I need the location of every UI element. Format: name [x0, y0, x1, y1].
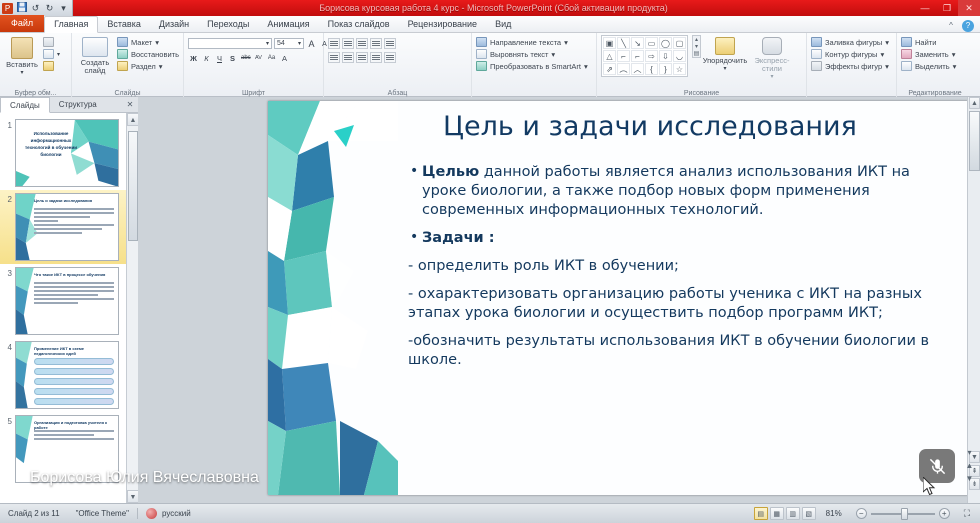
cut-button[interactable]: [43, 37, 60, 47]
paragraph-list-row: [328, 38, 396, 49]
slides-small-buttons: Макет▾ Восстановить Раздел▾: [117, 35, 179, 71]
shape-lightning-icon[interactable]: ⇗: [603, 63, 616, 75]
shape-fill-label: Заливка фигуры: [825, 38, 882, 47]
columns-button[interactable]: [384, 52, 396, 63]
shape-rounded-rect-icon[interactable]: ▢: [673, 37, 686, 49]
ribbon-tab-strip: Файл Главная Вставка Дизайн Переходы Ани…: [0, 16, 980, 33]
reset-button[interactable]: Восстановить: [117, 49, 179, 59]
zoom-in-button[interactable]: +: [939, 508, 950, 519]
shape-brace-right-icon[interactable]: }: [659, 63, 672, 75]
find-label: Найти: [915, 38, 936, 47]
tab-animations[interactable]: Анимация: [258, 17, 318, 32]
panel-close-icon[interactable]: ✕: [122, 97, 138, 112]
strikethrough-button[interactable]: abc: [240, 52, 251, 63]
text-direction-icon: [476, 37, 487, 47]
thumbnail-number: 2: [2, 193, 12, 261]
thumbnail-item[interactable]: 2 Цель и задачи исследования: [0, 190, 126, 264]
share-control-strip[interactable]: ▾ ▲ ▼: [963, 448, 976, 483]
smartart-icon: [476, 61, 487, 71]
line-spacing-button[interactable]: [384, 38, 396, 49]
thumbnail-title: Применение ИКТ в схеме педагогических ид…: [34, 346, 115, 356]
thumbnail-preview[interactable]: Использование информационных технологий …: [15, 119, 119, 187]
slide-bullet: Целью данной работы является анализ испо…: [408, 163, 954, 220]
participant-name-caption: Борисова Юлия Вячеславовна: [30, 469, 259, 487]
slide-dash-item: -обозначить результаты использования ИКТ…: [408, 332, 954, 370]
undo-icon[interactable]: ↺: [30, 3, 41, 14]
slide-thumbnail-list[interactable]: 1 Использование информационных технологи…: [0, 113, 126, 503]
thumbnail-number: 1: [2, 119, 12, 187]
slide-decoration-icon: [268, 101, 398, 495]
share-down-icon[interactable]: ▼: [966, 474, 974, 483]
copy-dropdown-icon[interactable]: ▾: [57, 51, 60, 58]
ribbon-group-paragraph: Абзац: [324, 33, 472, 97]
shapes-scroll-up-icon[interactable]: ▴: [693, 36, 700, 43]
thumbnail-preview[interactable]: Цель и задачи исследования: [15, 193, 119, 261]
paste-label: Вставить: [6, 61, 38, 69]
thumbnail-pill: [34, 388, 114, 395]
shape-fill-icon: [811, 37, 822, 47]
slide-title[interactable]: Цель и задачи исследования: [443, 111, 948, 142]
thumbnail-title: Использование информационных технологий …: [24, 130, 78, 158]
format-painter-button[interactable]: [43, 61, 60, 71]
current-slide[interactable]: Цель и задачи исследования Целью данной …: [268, 101, 968, 495]
select-button[interactable]: Выделить▾: [901, 61, 969, 71]
convert-smartart-label: Преобразовать в SmartArt: [490, 62, 581, 71]
convert-smartart-button[interactable]: Преобразовать в SmartArt▾: [476, 61, 592, 71]
clipboard-small-buttons: ▾: [43, 35, 60, 71]
arrange-icon: [715, 37, 735, 55]
slide-stage: Цель и задачи исследования Целью данной …: [138, 97, 980, 503]
drawing-group-label: Рисование: [597, 90, 806, 97]
align-text-button[interactable]: Выровнять текст▾: [476, 49, 592, 59]
shape-oval-icon[interactable]: ◯: [659, 37, 672, 49]
thumbnail-body-lines: [34, 208, 114, 236]
replace-icon: [901, 49, 912, 59]
shape-elbow2-icon[interactable]: ⌐: [631, 50, 644, 62]
quick-styles-button[interactable]: Экспресс-стили ▾: [749, 35, 795, 81]
find-icon: [901, 37, 912, 47]
title-bar: P ↺ ↻ ▾ Борисова курсовая работа 4 курс …: [0, 0, 980, 16]
thumbnail-number: 5: [2, 415, 12, 483]
replace-button[interactable]: Заменить▾: [901, 49, 969, 59]
tab-design[interactable]: Дизайн: [150, 17, 198, 32]
slide-bullet-text: данной работы является анализ использова…: [422, 164, 910, 218]
font-name-dropdown-icon[interactable]: ▾: [266, 39, 269, 49]
slide-counter: Слайд 2 из 11: [0, 509, 68, 518]
view-normal-button[interactable]: ▤: [754, 507, 768, 520]
shape-fill-button[interactable]: Заливка фигуры▾: [811, 37, 892, 47]
shape-arrow-icon[interactable]: ↘: [631, 37, 644, 49]
replace-label: Заменить: [915, 50, 949, 59]
thumbnail-number: 4: [2, 341, 12, 409]
shape-curve-icon[interactable]: ︵: [617, 63, 630, 75]
collapse-ribbon-icon[interactable]: ^: [945, 20, 957, 32]
quick-styles-dropdown-icon[interactable]: ▾: [770, 73, 773, 81]
zoom-slider[interactable]: − +: [850, 508, 956, 519]
shape-down-arrow-icon[interactable]: ⇩: [659, 50, 672, 62]
shape-effects-button[interactable]: Эффекты фигур▾: [811, 61, 892, 71]
decrease-indent-button[interactable]: [356, 38, 368, 49]
thumbnail-preview[interactable]: Применение ИКТ в схеме педагогических ид…: [15, 341, 119, 409]
arrange-dropdown-icon[interactable]: ▾: [723, 65, 726, 73]
spellcheck-icon: [146, 508, 157, 519]
panel-scroll-thumb[interactable]: [128, 131, 138, 241]
font-style-row: Ж К Ч S abc AV Aa A: [188, 52, 290, 63]
align-text-icon: [476, 49, 487, 59]
tab-insert[interactable]: Вставка: [98, 17, 149, 32]
paste-icon: [11, 37, 33, 59]
qat-more-icon[interactable]: ▾: [58, 3, 69, 14]
slides-panel-scrollbar[interactable]: ▲ ▼: [126, 113, 138, 503]
paste-dropdown-icon[interactable]: ▾: [20, 69, 23, 77]
layout-icon: [117, 37, 128, 47]
paragraph-align-row: [328, 52, 396, 63]
shapes-scroll-down-icon[interactable]: ▾: [693, 43, 700, 50]
find-button[interactable]: Найти: [901, 37, 969, 47]
editing-column: Найти Заменить▾ Выделить▾: [901, 35, 969, 71]
slide-bullet-lead: Задачи: [422, 230, 484, 246]
font-size-value: 54: [277, 39, 285, 49]
copy-icon: [43, 49, 54, 59]
thumbnail-number: 3: [2, 267, 12, 335]
microphone-muted-icon: [928, 457, 947, 476]
scissors-icon: [43, 37, 54, 47]
text-direction-button[interactable]: Направление текста▾: [476, 37, 592, 47]
close-button[interactable]: ✕: [958, 0, 980, 16]
view-slide-sorter-button[interactable]: ▦: [770, 507, 784, 520]
shape-brace-left-icon[interactable]: {: [645, 63, 658, 75]
align-center-button[interactable]: [342, 52, 354, 63]
shape-effects-label: Эффекты фигур: [825, 62, 882, 71]
section-icon: [117, 61, 128, 71]
status-bar: Слайд 2 из 11 "Office Theme" русский ▤ ▦…: [0, 503, 980, 523]
slide-bullet-lead: Целью: [422, 164, 479, 180]
slide-dash-item: - определить роль ИКТ в обучении;: [408, 257, 954, 276]
fit-to-window-button[interactable]: ⛶: [956, 508, 980, 519]
language-indicator[interactable]: русский: [138, 508, 199, 519]
shape-triangle-icon[interactable]: △: [603, 50, 616, 62]
format-painter-icon: [43, 61, 54, 71]
editing-group-label: Редактирование: [897, 90, 973, 97]
redo-icon[interactable]: ↻: [44, 3, 55, 14]
ribbon-group-drawing: ▣ ╲ ↘ ▭ ◯ ▢ △ ⌐ ⌐ ⇨ ⇩ ◡ ⇗ ︵ ︿ { }: [597, 33, 807, 97]
thumbnail-body-lines: [34, 282, 114, 306]
paragraph-group-label: Абзац: [324, 90, 471, 97]
font-name-row: ▾ 54▾ A A: [188, 38, 330, 49]
window-controls: — ❐ ✕: [914, 0, 980, 16]
underline-button[interactable]: Ч: [214, 52, 225, 63]
new-slide-icon: [82, 37, 108, 57]
ribbon-group-editing: Найти Заменить▾ Выделить▾ Редактирование: [897, 33, 973, 97]
section-label: Раздел: [131, 62, 156, 71]
clipboard-group-label: Буфер обм...: [0, 90, 71, 97]
help-icon[interactable]: ?: [962, 20, 974, 32]
work-area: Слайды Структура ✕ 1: [0, 97, 980, 503]
text-shadow-button[interactable]: S: [227, 52, 238, 63]
layout-label: Макет: [131, 38, 152, 47]
panel-tab-slides[interactable]: Слайды: [0, 97, 50, 113]
powerpoint-logo-icon: P: [2, 3, 13, 14]
view-slideshow-button[interactable]: ▧: [802, 507, 816, 520]
thumbnail-title: Что такое ИКТ в процессе обучения: [34, 272, 115, 277]
numbering-button[interactable]: [342, 38, 354, 49]
change-case-button[interactable]: Aa: [266, 52, 277, 63]
ribbon-group-font: ▾ 54▾ A A Ж К Ч S abc AV Aa A Шрифт: [184, 33, 324, 97]
slide-bullet-text: :: [484, 230, 495, 246]
save-icon[interactable]: [16, 2, 27, 14]
shapes-scroll-more-icon[interactable]: ▤: [693, 50, 700, 57]
justify-button[interactable]: [370, 52, 382, 63]
shape-rect-icon[interactable]: ▣: [603, 37, 616, 49]
shape-star-icon[interactable]: ☆: [673, 63, 686, 75]
arrange-button[interactable]: Упорядочить ▾: [704, 35, 746, 73]
select-label: Выделить: [915, 62, 950, 71]
shape-elbow-icon[interactable]: ⌐: [617, 50, 630, 62]
font-group-label: Шрифт: [184, 90, 323, 97]
thumbnail-pill: [34, 398, 114, 405]
bullets-button[interactable]: [328, 38, 340, 49]
font-color-button[interactable]: A: [279, 52, 290, 63]
window-title: Борисова курсовая работа 4 курс - Micros…: [73, 3, 914, 13]
shape-right-arrow-icon[interactable]: ⇨: [645, 50, 658, 62]
reset-label: Восстановить: [131, 50, 179, 59]
tab-view[interactable]: Вид: [486, 17, 520, 32]
text-direction-label: Направление текста: [490, 38, 561, 47]
thumbnail-title: Цель и задачи исследования: [34, 198, 115, 203]
slide-dash-item: - охарактеризовать организацию работы уч…: [408, 285, 954, 323]
ribbon-group-text-tools: Направление текста▾ Выровнять текст▾ Пре…: [472, 33, 597, 97]
layout-button[interactable]: Макет▾: [117, 37, 179, 47]
mouse-cursor-icon: [923, 477, 937, 497]
shape-format-column: Заливка фигуры▾ Контур фигуры▾ Эффекты ф…: [811, 35, 892, 71]
ribbon-help-icons: ^ ?: [945, 20, 980, 32]
shape-outline-icon: [811, 49, 822, 59]
bold-button[interactable]: Ж: [188, 52, 199, 63]
thumbnail-pill: [34, 358, 114, 365]
language-label: русский: [162, 509, 191, 518]
shape-moon-icon[interactable]: ◡: [673, 50, 686, 62]
select-icon: [901, 61, 912, 71]
powerpoint-window: P ↺ ↻ ▾ Борисова курсовая работа 4 курс …: [0, 0, 980, 523]
shape-outline-button[interactable]: Контур фигуры▾: [811, 49, 892, 59]
italic-button[interactable]: К: [201, 52, 212, 63]
quick-styles-label: Экспресс-стили: [749, 57, 795, 73]
tab-home[interactable]: Главная: [44, 16, 98, 33]
ribbon-group-shape-format: Заливка фигуры▾ Контур фигуры▾ Эффекты ф…: [807, 33, 897, 97]
align-right-button[interactable]: [356, 52, 368, 63]
slides-panel: Слайды Структура ✕ 1: [0, 97, 138, 503]
arrange-label: Упорядочить: [703, 57, 748, 65]
reset-icon: [117, 49, 128, 59]
slide-scroll-thumb[interactable]: [969, 111, 980, 171]
slide-bullet: Задачи :: [408, 229, 954, 248]
slide-body[interactable]: Целью данной работы является анализ испо…: [408, 163, 954, 379]
align-left-button[interactable]: [328, 52, 340, 63]
align-text-label: Выровнять текст: [490, 50, 548, 59]
ribbon: Вставить ▾ ▾ Буфер обм... Создать слайд: [0, 33, 980, 97]
share-up-icon[interactable]: ▲: [966, 461, 974, 470]
minimize-button[interactable]: —: [914, 0, 936, 16]
new-slide-button[interactable]: Создать слайд: [76, 35, 114, 75]
thumbnail-item[interactable]: 1 Использование информационных технологи…: [0, 116, 126, 190]
zoom-track[interactable]: [871, 513, 935, 515]
shape-line-icon[interactable]: ╲: [617, 37, 630, 49]
thumbnail-pill: [34, 378, 114, 385]
shapes-gallery-scrollbar[interactable]: ▴▾▤: [692, 35, 701, 58]
shape-rectangle-icon[interactable]: ▭: [645, 37, 658, 49]
thumbnail-preview[interactable]: Что такое ИКТ в процессе обучения: [15, 267, 119, 335]
text-tools-column: Направление текста▾ Выровнять текст▾ Пре…: [476, 35, 592, 71]
copy-button[interactable]: ▾: [43, 49, 60, 59]
view-buttons[interactable]: ▤ ▦ ▥ ▧: [754, 507, 818, 520]
font-size-dropdown-icon[interactable]: ▾: [298, 39, 301, 49]
panel-tab-outline[interactable]: Структура: [50, 97, 106, 112]
shape-effects-icon: [811, 61, 822, 71]
restore-button[interactable]: ❐: [936, 0, 958, 16]
new-slide-label: Создать слайд: [76, 59, 114, 75]
tab-transitions[interactable]: Переходы: [198, 17, 258, 32]
tab-file[interactable]: Файл: [0, 15, 44, 32]
thumbnail-pill: [34, 368, 114, 375]
shapes-gallery[interactable]: ▣ ╲ ↘ ▭ ◯ ▢ △ ⌐ ⌐ ⇨ ⇩ ◡ ⇗ ︵ ︿ { }: [601, 35, 688, 77]
thumbnail-item[interactable]: 4 Применение ИКТ в схеме педагогических …: [0, 338, 126, 412]
tab-review[interactable]: Рецензирование: [399, 17, 487, 32]
slide-vertical-scrollbar[interactable]: ▲ ▼ ⇞ ⇟: [967, 97, 980, 503]
share-collapse-icon[interactable]: ▾: [967, 448, 971, 457]
slide-scroll-up-icon[interactable]: ▲: [969, 97, 980, 109]
grow-font-button[interactable]: A: [306, 38, 317, 49]
shape-outline-label: Контур фигуры: [825, 50, 877, 59]
section-button[interactable]: Раздел▾: [117, 61, 179, 71]
theme-name[interactable]: "Office Theme": [68, 509, 137, 518]
quick-access-toolbar[interactable]: P ↺ ↻ ▾: [0, 0, 73, 16]
increase-indent-button[interactable]: [370, 38, 382, 49]
thumbnail-item[interactable]: 3 Что такое ИКТ в процессе обучения: [0, 264, 126, 338]
shape-arc-icon[interactable]: ︿: [631, 63, 644, 75]
quick-styles-icon: [762, 37, 782, 55]
zoom-level-label[interactable]: 81%: [818, 509, 850, 518]
thumbnail-title: Организация и подготовка учителя к работ…: [34, 420, 115, 430]
zoom-out-button[interactable]: −: [856, 508, 867, 519]
font-name-input[interactable]: ▾: [188, 38, 272, 49]
view-reading-button[interactable]: ▥: [786, 507, 800, 520]
character-spacing-button[interactable]: AV: [253, 52, 264, 63]
ribbon-group-slides: Создать слайд Макет▾ Восстановить Раздел…: [72, 33, 184, 97]
thumbnail-body-lines: [34, 430, 114, 442]
paste-button[interactable]: Вставить ▾: [4, 35, 40, 77]
thumbnail-pill-list: [34, 358, 114, 408]
ribbon-group-clipboard: Вставить ▾ ▾ Буфер обм...: [0, 33, 72, 97]
panel-tabs: Слайды Структура ✕: [0, 97, 138, 113]
tab-slideshow[interactable]: Показ слайдов: [319, 17, 399, 32]
font-size-input[interactable]: 54▾: [274, 38, 304, 49]
slides-group-label: Слайды: [72, 90, 183, 97]
zoom-handle[interactable]: [901, 508, 908, 520]
